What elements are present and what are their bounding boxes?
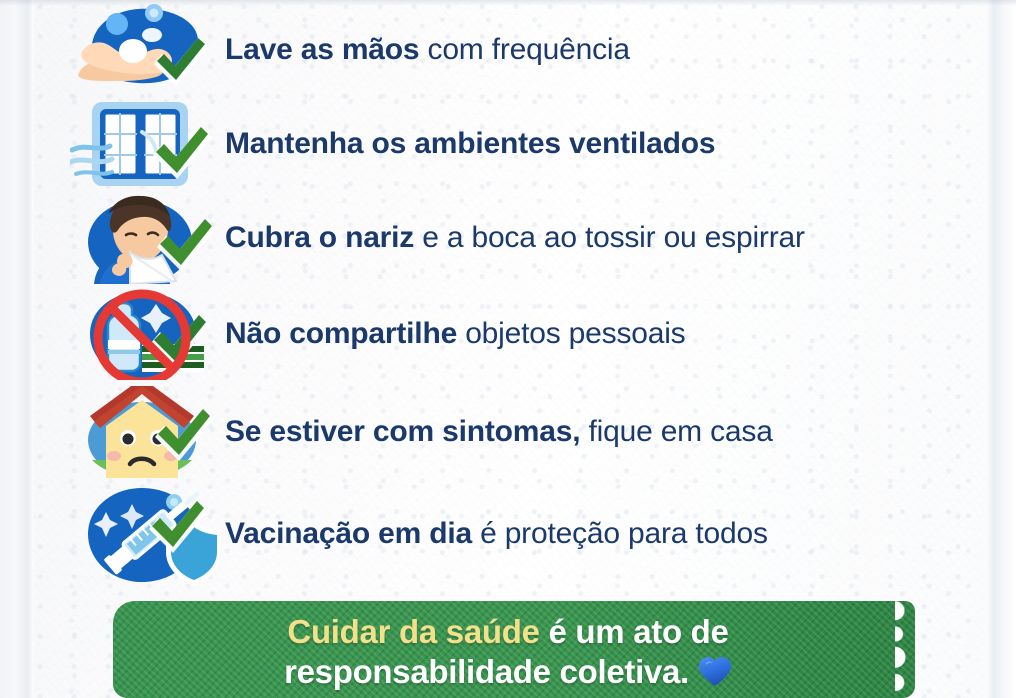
tip-bold-text: Cubra o nariz bbox=[225, 221, 414, 254]
tip-rest-text: objetos pessoais bbox=[457, 317, 685, 350]
closing-message-banner: Cuidar da saúde é um ato de responsabili… bbox=[113, 601, 915, 698]
tip-rest-text: fique em casa bbox=[580, 415, 772, 448]
banner-text: Cuidar da saúde é um ato de responsabili… bbox=[113, 612, 903, 697]
tip-text-stay-home: Se estiver com sintomas, fique em casa bbox=[225, 416, 773, 448]
tip-row-no-sharing: Não compartilhe objetos pessoais bbox=[70, 288, 685, 380]
tip-bold-text: Se estiver com sintomas, bbox=[225, 415, 580, 448]
tip-bold-text: Mantenha os ambientes ventilados bbox=[225, 127, 715, 160]
tip-rest-text: com frequência bbox=[419, 33, 629, 66]
no-sharing-personal-items-icon bbox=[70, 288, 220, 380]
prevention-infographic-poster: Lave as mãos com frequência bbox=[0, 0, 1016, 698]
blue-heart-emoji bbox=[698, 656, 732, 696]
page-left-fold bbox=[0, 0, 34, 698]
tip-bold-text: Vacinação em dia bbox=[225, 517, 472, 550]
page-right-edge bbox=[986, 0, 1016, 698]
tip-row-vaccination: Vacinação em dia é proteção para todos bbox=[70, 482, 768, 586]
tip-rest-text: é proteção para todos bbox=[472, 517, 768, 550]
open-window-ventilation-icon bbox=[70, 98, 220, 190]
stay-home-sad-house-icon bbox=[70, 386, 220, 478]
banner-line2-text: responsabilidade coletiva. bbox=[284, 653, 689, 690]
tip-row-handwashing: Lave as mãos com frequência bbox=[70, 4, 630, 96]
tip-text-vaccination: Vacinação em dia é proteção para todos bbox=[225, 518, 768, 550]
tip-bold-text: Lave as mãos bbox=[225, 33, 419, 66]
banner-highlight-text: Cuidar da saúde bbox=[287, 613, 539, 650]
banner-line1-rest: é um ato de bbox=[540, 613, 729, 650]
tip-row-ventilation: Mantenha os ambientes ventilados bbox=[70, 98, 715, 190]
tip-text-cover-cough: Cubra o nariz e a boca ao tossir ou espi… bbox=[225, 222, 805, 254]
tip-bold-text: Não compartilhe bbox=[225, 317, 457, 350]
vaccination-syringe-shield-icon bbox=[70, 482, 220, 586]
cover-cough-tissue-icon bbox=[70, 192, 220, 284]
tip-text-ventilation: Mantenha os ambientes ventilados bbox=[225, 128, 715, 160]
tip-row-stay-home: Se estiver com sintomas, fique em casa bbox=[70, 386, 773, 478]
tip-text-handwashing: Lave as mãos com frequência bbox=[225, 34, 630, 66]
tip-text-no-sharing: Não compartilhe objetos pessoais bbox=[225, 318, 685, 350]
tip-row-cover-cough: Cubra o nariz e a boca ao tossir ou espi… bbox=[70, 192, 805, 284]
tip-rest-text: e a boca ao tossir ou espirrar bbox=[414, 221, 805, 254]
handwashing-icon bbox=[70, 4, 220, 96]
